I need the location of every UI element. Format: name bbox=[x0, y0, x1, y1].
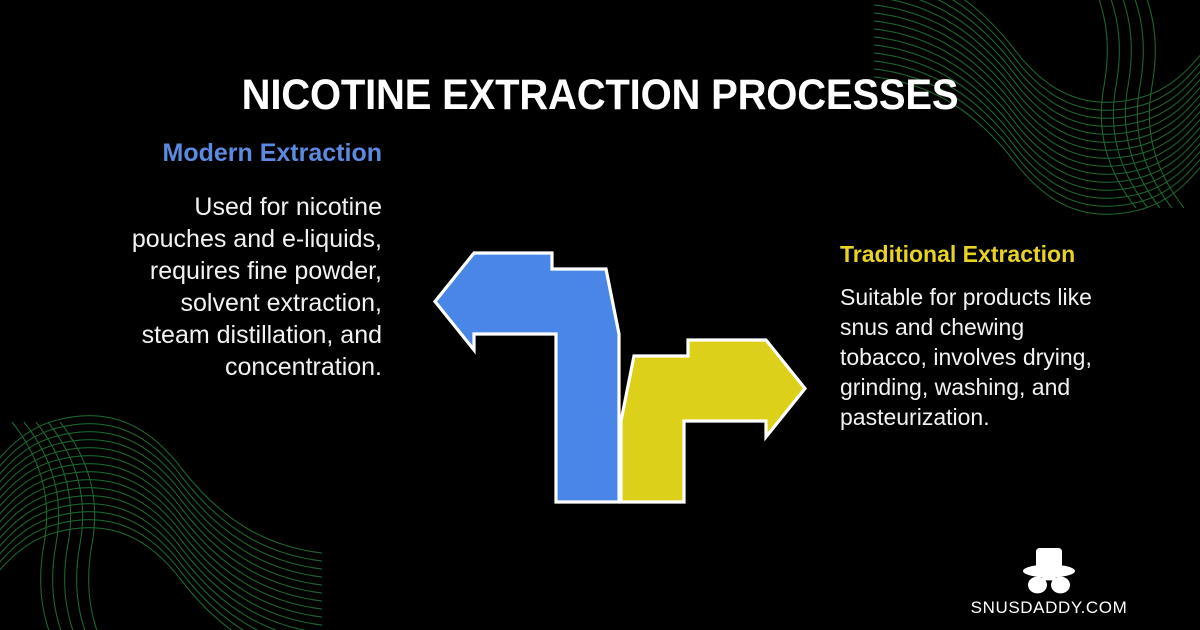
brand-block: SNUSDADDY.COM bbox=[954, 548, 1144, 616]
infographic-canvas: NICOTINE EXTRACTION PROCESSES Modern Ext… bbox=[0, 0, 1200, 630]
modern-extraction-heading: Modern Extraction bbox=[120, 138, 382, 169]
traditional-extraction-body: Suitable for products like snus and chew… bbox=[840, 283, 1102, 432]
traditional-extraction-heading: Traditional Extraction bbox=[840, 240, 1102, 269]
modern-extraction-body: Used for nicotine pouches and e-liquids,… bbox=[120, 191, 382, 383]
arrow-graphic bbox=[420, 240, 820, 520]
incognito-hat-glasses-icon bbox=[1017, 548, 1081, 594]
column-modern-extraction: Modern Extraction Used for nicotine pouc… bbox=[120, 138, 382, 383]
brand-name: SNUSDADDY.COM bbox=[954, 599, 1144, 616]
bent-arrow-right-icon bbox=[621, 340, 805, 502]
wave-lines-icon bbox=[0, 406, 322, 630]
column-traditional-extraction: Traditional Extraction Suitable for prod… bbox=[840, 240, 1102, 432]
page-title: NICOTINE EXTRACTION PROCESSES bbox=[42, 74, 1158, 117]
bent-arrow-left-icon bbox=[435, 253, 619, 502]
